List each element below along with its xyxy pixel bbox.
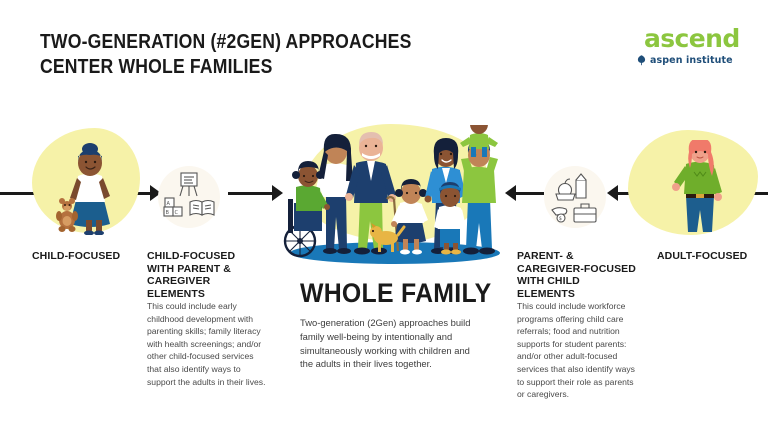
girl-with-teddy-bear-illustration <box>50 140 130 235</box>
logo-wordmark: ascend <box>634 26 744 52</box>
aspen-leaf-icon <box>636 54 647 66</box>
svg-text:A: A <box>167 201 171 207</box>
page-title: Two-Generation (#2Gen) Approaches Center… <box>40 30 410 80</box>
whole-family-illustration <box>270 125 510 265</box>
column-label-child-focused-with-elements: Child-Focused with Parent & Caregiver El… <box>147 250 265 300</box>
infographic-canvas: Two-Generation (#2Gen) Approaches Center… <box>0 0 768 432</box>
column-label-adult-focused: Adult-Focused <box>657 250 767 263</box>
column-label-parent-caregiver-focused: Parent- & Caregiver-Focused with Child E… <box>517 250 637 300</box>
column-label-child-focused: Child-Focused <box>32 250 152 263</box>
child-focused-icon-set: A B C <box>160 168 218 226</box>
arrow-head-left <box>607 185 618 201</box>
logo-subtext: aspen institute <box>650 55 733 66</box>
arrow-line-center-left <box>228 192 272 195</box>
column-body-parent-caregiver-focused: This could include workforce programs of… <box>517 300 639 401</box>
parent-caregiver-icon-set: $ <box>546 168 604 226</box>
page-title-line-1: Two-Generation (#2Gen) Approaches <box>40 30 410 55</box>
center-body-whole-family: Two-generation (2Gen) approaches build f… <box>300 316 476 371</box>
svg-text:C: C <box>175 210 179 216</box>
svg-text:$: $ <box>559 216 562 222</box>
arrow-line-center-right <box>516 192 544 195</box>
column-body-child-focused-with-elements: This could include early childhood devel… <box>147 300 269 388</box>
page-title-line-2: Center Whole Families <box>40 55 410 80</box>
woman-standing-illustration <box>660 140 740 235</box>
svg-text:B: B <box>166 210 170 216</box>
center-title-whole-family: Whole Family <box>300 278 491 308</box>
ascend-aspen-institute-logo: ascend aspen institute <box>634 26 744 74</box>
